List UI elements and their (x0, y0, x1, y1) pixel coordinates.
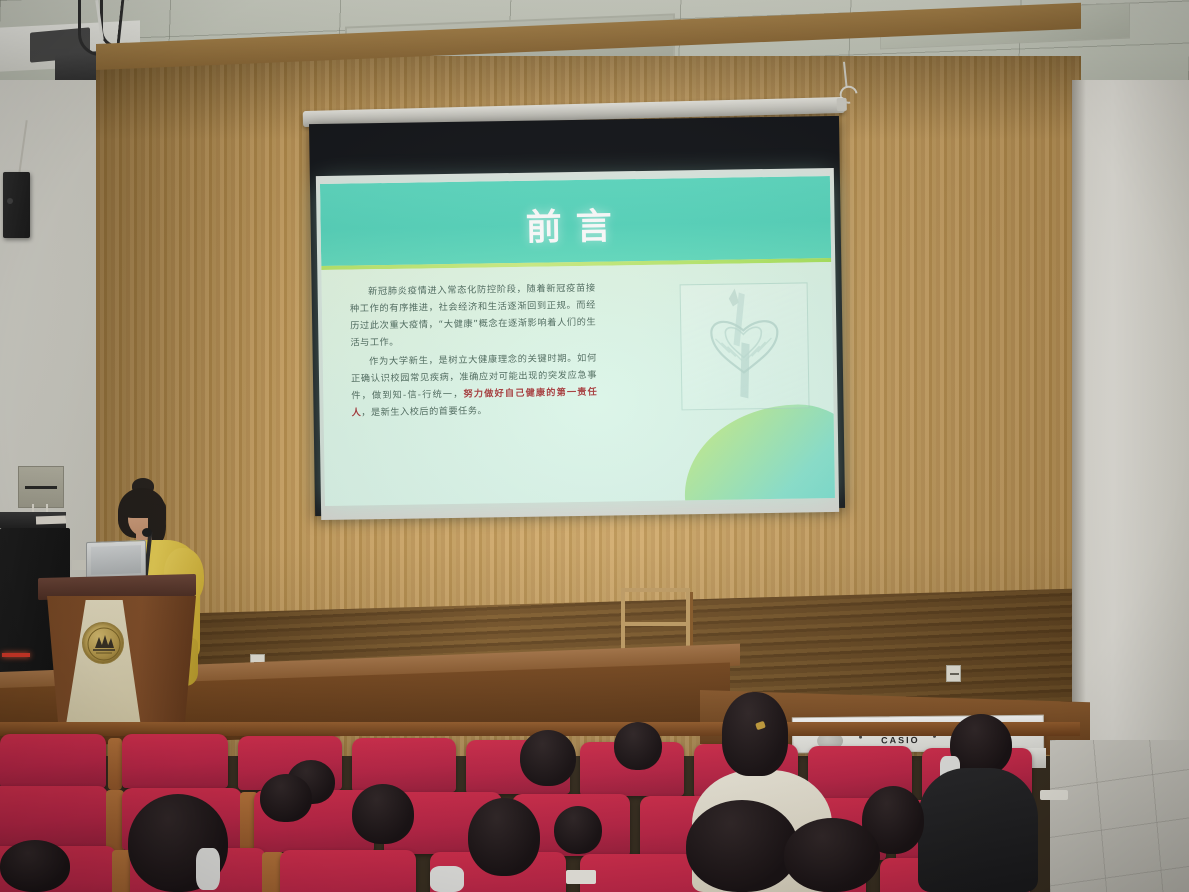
hands-forming-heart-icon (689, 285, 803, 405)
slide-body: 新冠肺炎疫情进入常态化防控阶段，随着新冠疫苗接种工作的有序推进，社会经济和生活逐… (321, 262, 835, 506)
seat[interactable] (0, 734, 106, 788)
slide-paragraph-2: 作为大学新生，是树立大健康理念的关键时期。如何正确认识校园常见疾病，准确应对可能… (351, 350, 598, 422)
university-crest-emblem (82, 622, 124, 664)
audience-head (352, 784, 414, 844)
papers-on-rack (36, 515, 66, 524)
slide-body-text: 新冠肺炎疫情进入常态化防控阶段，随着新冠疫苗接种工作的有序推进，社会经济和生活逐… (350, 280, 598, 424)
projection-screen: 前言 (309, 108, 845, 516)
seat[interactable] (122, 734, 228, 788)
audience-head (686, 800, 798, 892)
slide-paragraph-1: 新冠肺炎疫情进入常态化防控阶段，随着新冠疫苗接种工作的有序推进，社会经济和生活逐… (350, 280, 597, 352)
audience-head (614, 722, 662, 770)
audience-head (260, 774, 312, 822)
projector-cable (100, 0, 118, 48)
audience-head (520, 730, 576, 786)
audience-head (0, 840, 70, 892)
podium (38, 576, 196, 734)
lecture-hall-photo: 前言 (0, 0, 1189, 892)
seat[interactable] (280, 850, 416, 892)
presenter-laptop[interactable] (86, 540, 146, 580)
projected-slide: 前言 (320, 176, 835, 506)
seat[interactable] (0, 786, 108, 848)
screen-black-border: 前言 (309, 116, 845, 516)
seat-number-tag (566, 870, 596, 884)
seat[interactable] (352, 738, 456, 792)
slide-title: 前言 (320, 194, 831, 254)
seat-frame (108, 738, 122, 790)
wall-outlet[interactable] (946, 665, 961, 682)
crest-mountains-icon (83, 623, 125, 665)
slide-paragraph-2-tail: ，是新生入校后的首要任务。 (361, 405, 487, 418)
face-mask (430, 866, 464, 892)
audience-torso (918, 768, 1038, 892)
slide-illustration-frame (680, 282, 810, 410)
audience-head (468, 798, 540, 876)
screen-roller-endcap (837, 98, 847, 111)
seat-number-tag (1040, 790, 1068, 800)
wall-speaker (3, 172, 30, 238)
microphone-icon (142, 528, 152, 537)
rack-status-led (2, 653, 30, 657)
face-mask (196, 848, 220, 890)
audience-head (722, 692, 788, 776)
slide-corner-blob (683, 403, 834, 506)
audience-head (554, 806, 602, 854)
wall-control-panel[interactable] (18, 466, 64, 508)
audience-head (784, 818, 880, 892)
